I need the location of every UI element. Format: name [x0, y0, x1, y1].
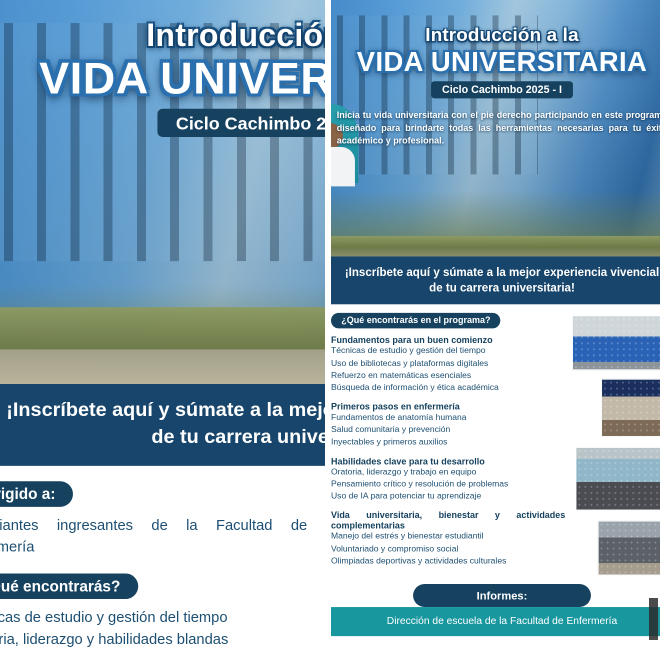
banner-line-1: ¡Inscríbete aquí y súmate a la mejor exp…: [345, 265, 660, 281]
audience-text: Estudiantes ingresantes de la Facultad d…: [0, 516, 307, 560]
encontraras-list: Técnicas de estudio y gestión del tiempo…: [0, 608, 307, 653]
group-item: Olimpiadas deportivas y actividades cult…: [331, 555, 565, 567]
call-to-action-banner: ¡Inscríbete aquí y súmate a la mejor exp…: [331, 257, 660, 305]
banner-line-2: de tu carrera universitaria!: [345, 281, 660, 297]
group-item: Fundamentos de anatomía humana: [331, 412, 565, 424]
comparison-stage: Introducción a la VIDA UNIVERSITARIA Cic…: [0, 0, 660, 653]
program-group: Habilidades clave para tu desarrollo Ora…: [331, 456, 565, 503]
call-to-action-banner: ¡Inscríbete aquí y súmate a la mejor exp…: [0, 384, 325, 466]
full-flyer-pane: Introducción a la VIDA UNIVERSITARIA Cic…: [331, 0, 660, 653]
group-item: Uso de IA para potenciar tu aprendizaje: [331, 491, 565, 503]
hero-title-line1: Introducción a la: [331, 24, 660, 46]
group-item: Inyectables y primeros auxilios: [331, 437, 565, 449]
list-item: Técnicas de estudio y gestión del tiempo: [0, 608, 307, 629]
hero-ground: [0, 349, 325, 384]
hero-title-line1: Introducción a la: [0, 18, 325, 55]
group-item: Manejo del estrés y bienestar estudianti…: [331, 531, 565, 543]
encontraras-pill: ¿Qué encontrarás?: [0, 574, 138, 600]
program-group: Fundamentos para un buen comienzo Técnic…: [331, 336, 565, 395]
hero-title-line2: VIDA UNIVERSITARIA: [0, 56, 325, 101]
group-title: Fundamentos para un buen comienzo: [331, 336, 565, 346]
photo-thumbnail: [601, 379, 660, 437]
list-item: Oratoria, liderazgo y habilidades blanda…: [0, 629, 307, 650]
banner-line-1: ¡Inscríbete aquí y súmate a la mejor exp…: [0, 398, 325, 425]
group-item: Uso de bibliotecas y plataformas digital…: [331, 358, 565, 370]
program-group: Primeros pasos en enfermería Fundamentos…: [331, 402, 565, 449]
hero-cycle-badge: Ciclo Cachimbo 2025 - I: [158, 109, 325, 137]
hero-title-line2: VIDA UNIVERSITARIA: [331, 48, 660, 75]
group-item: Técnicas de estudio y gestión del tiempo: [331, 346, 565, 358]
hero-paragraph: Inicia tu vida universitaria con el pie …: [337, 109, 660, 148]
hero-cycle-badge: Ciclo Cachimbo 2025 - I: [431, 81, 573, 98]
group-title: Primeros pasos en enfermería: [331, 402, 565, 412]
pane-seam: [325, 0, 331, 653]
photo-thumbnail: [576, 448, 660, 511]
banner-line-2: de tu carrera universitaria!: [0, 425, 325, 452]
footer-text: Dirección de escuela de la Facultad de E…: [387, 615, 617, 627]
group-item: Pensamiento crítico y resolución de prob…: [331, 479, 565, 491]
program-group: Vida universitaria, bienestar y activida…: [331, 511, 565, 568]
informes-pill: Informes:: [413, 584, 590, 607]
photo-thumbnail: [598, 521, 660, 576]
side-cropped-card: [649, 598, 658, 640]
group-title: Habilidades clave para tu desarrollo: [331, 456, 565, 466]
group-item: Búsqueda de información y ética académic…: [331, 382, 565, 394]
group-item: Refuerzo en matemáticas esenciales: [331, 370, 565, 382]
program-pill: ¿Qué encontrarás en el programa?: [331, 313, 501, 328]
group-item: Salud comunitaria y prevención: [331, 424, 565, 436]
photo-thumbnail: [572, 316, 660, 371]
group-item: Voluntariado y compromiso social: [331, 543, 565, 555]
group-title: Vida universitaria, bienestar y activida…: [331, 511, 565, 532]
cropped-zoom-pane: Introducción a la VIDA UNIVERSITARIA Cic…: [0, 0, 325, 653]
group-item: Oratoria, liderazgo y trabajo en equipo: [331, 467, 565, 479]
audience-pill: Dirigido a:: [0, 481, 73, 507]
